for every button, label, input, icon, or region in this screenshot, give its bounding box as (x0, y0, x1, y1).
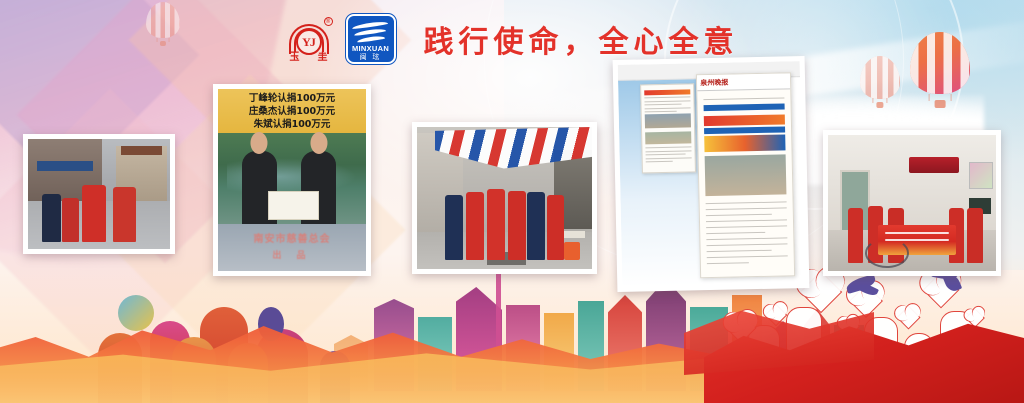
photo-card-community-hall[interactable]: Volunteers in red vests beside a red ban… (823, 130, 1001, 276)
yuji-seal-logo-icon: ® YJ 玉 圭 (286, 15, 332, 63)
photo-card-newspaper-clipping[interactable]: 泉州晚报 Scanned newspaper pa (613, 56, 810, 292)
photo-newspaper-clipping: 泉州晚报 Scanned newspaper pa (618, 61, 805, 287)
seal-char-left: 玉 (290, 53, 300, 63)
donation-line-3: 朱斌认捐100万元 (254, 119, 331, 131)
wave-motif-icon (350, 20, 392, 43)
heart-icon-6 (896, 305, 920, 329)
seal-char-right: 圭 (318, 53, 328, 63)
photo-donation-certificate: 丁峰轮认捐100万元 庄桑杰认捐100万元 朱斌认捐100万元 南安市慈善总会 … (218, 89, 366, 271)
wall-map-decor (969, 162, 993, 189)
donation-banner-overlay: 丁峰轮认捐100万元 庄桑杰认捐100万元 朱斌认捐100万元 (218, 89, 366, 133)
person-figure (547, 195, 565, 260)
red-ribbon-fold (684, 305, 874, 375)
newspaper-page-main: 泉州晚报 (696, 72, 795, 278)
person-figure (508, 191, 526, 261)
banner-slogan: 践行使命，全心全意 (424, 17, 739, 61)
certificate-decor (268, 191, 318, 220)
photo-community-hall: Volunteers in red vests beside a red ban… (828, 135, 996, 271)
person-figure (113, 187, 136, 242)
person-figure (82, 185, 106, 242)
photo-card-volunteer-group[interactable]: Six volunteers in red vests with masks s… (412, 122, 597, 274)
minxuan-english-name: MINXUAN (352, 44, 389, 53)
heart-icon-8 (965, 308, 985, 328)
photo-3-alt: Six volunteers in red vests with masks s… (417, 127, 418, 128)
seal-chinese-chars: 玉 圭 (286, 53, 332, 63)
heart-icon-2 (765, 304, 788, 327)
person-figure (42, 194, 60, 242)
person-figure (62, 198, 79, 242)
photo-volunteer-group: Six volunteers in red vests with masks s… (417, 127, 592, 269)
newspaper-masthead-title: 泉州晚报 (700, 77, 728, 88)
photo-footer-strip: 南安市慈善总会 出 品 (218, 224, 366, 271)
bicycle-decor (865, 238, 909, 268)
person-figure (967, 208, 982, 262)
banner-header: ® YJ 玉 圭 MINXUAN 闽 玹 践行使命，全心全意 (0, 0, 1024, 78)
wall-plaque-decor (909, 157, 959, 173)
photo-street-volunteers: Volunteers in red vests handing out leaf… (28, 139, 170, 249)
registered-mark-icon: ® (324, 17, 333, 26)
stool-decor (564, 242, 580, 260)
promotional-banner: ® YJ 玉 圭 MINXUAN 闽 玹 践行使命，全心全意 Vo (0, 0, 1024, 403)
donation-line-1: 丁峰轮认捐100万元 (249, 93, 335, 105)
person-figure (848, 208, 863, 262)
minxuan-logo-icon: MINXUAN 闽 玹 (346, 14, 396, 64)
photo-card-donation-certificate[interactable]: 丁峰轮认捐100万元 庄桑杰认捐100万元 朱斌认捐100万元 南安市慈善总会 … (213, 84, 371, 276)
donation-line-2: 庄桑杰认捐100万元 (249, 106, 335, 118)
shop-sign-decor (37, 161, 94, 171)
heart-icon-5 (839, 316, 860, 337)
person-figure (445, 195, 463, 260)
person-figure (466, 192, 484, 260)
person-figure (527, 192, 545, 260)
photo-footer-line-1: 南安市慈善总会 (218, 230, 366, 245)
newspaper-page-thumbnail (640, 83, 696, 173)
heart-icon-1 (725, 312, 756, 343)
red-ribbon-decor (704, 283, 1024, 403)
photo-footer-line-2: 出 品 (218, 248, 366, 261)
photo-card-street-volunteers[interactable]: Volunteers in red vests handing out leaf… (23, 134, 175, 254)
minxuan-chinese-name: 闽 玹 (360, 53, 382, 62)
person-figure (487, 189, 505, 260)
